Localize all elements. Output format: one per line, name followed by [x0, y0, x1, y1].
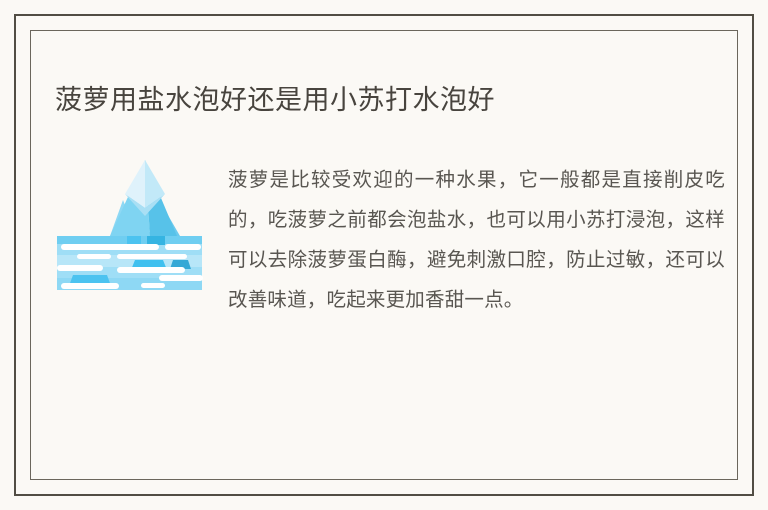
iceberg-peaks [110, 160, 180, 236]
sea-block [57, 236, 203, 290]
iceberg-illustration [55, 138, 203, 290]
article-content: 菠萝用盐水泡好还是用小苏打水泡好 [0, 0, 768, 510]
article-paragraph: 菠萝是比较受欢迎的一种水果，它一般都是直接削皮吃的，吃菠萝之前都会泡盐水，也可以… [228, 160, 725, 320]
page-title: 菠萝用盐水泡好还是用小苏打水泡好 [55, 80, 695, 120]
page-root: 菠萝用盐水泡好还是用小苏打水泡好 [0, 0, 768, 510]
